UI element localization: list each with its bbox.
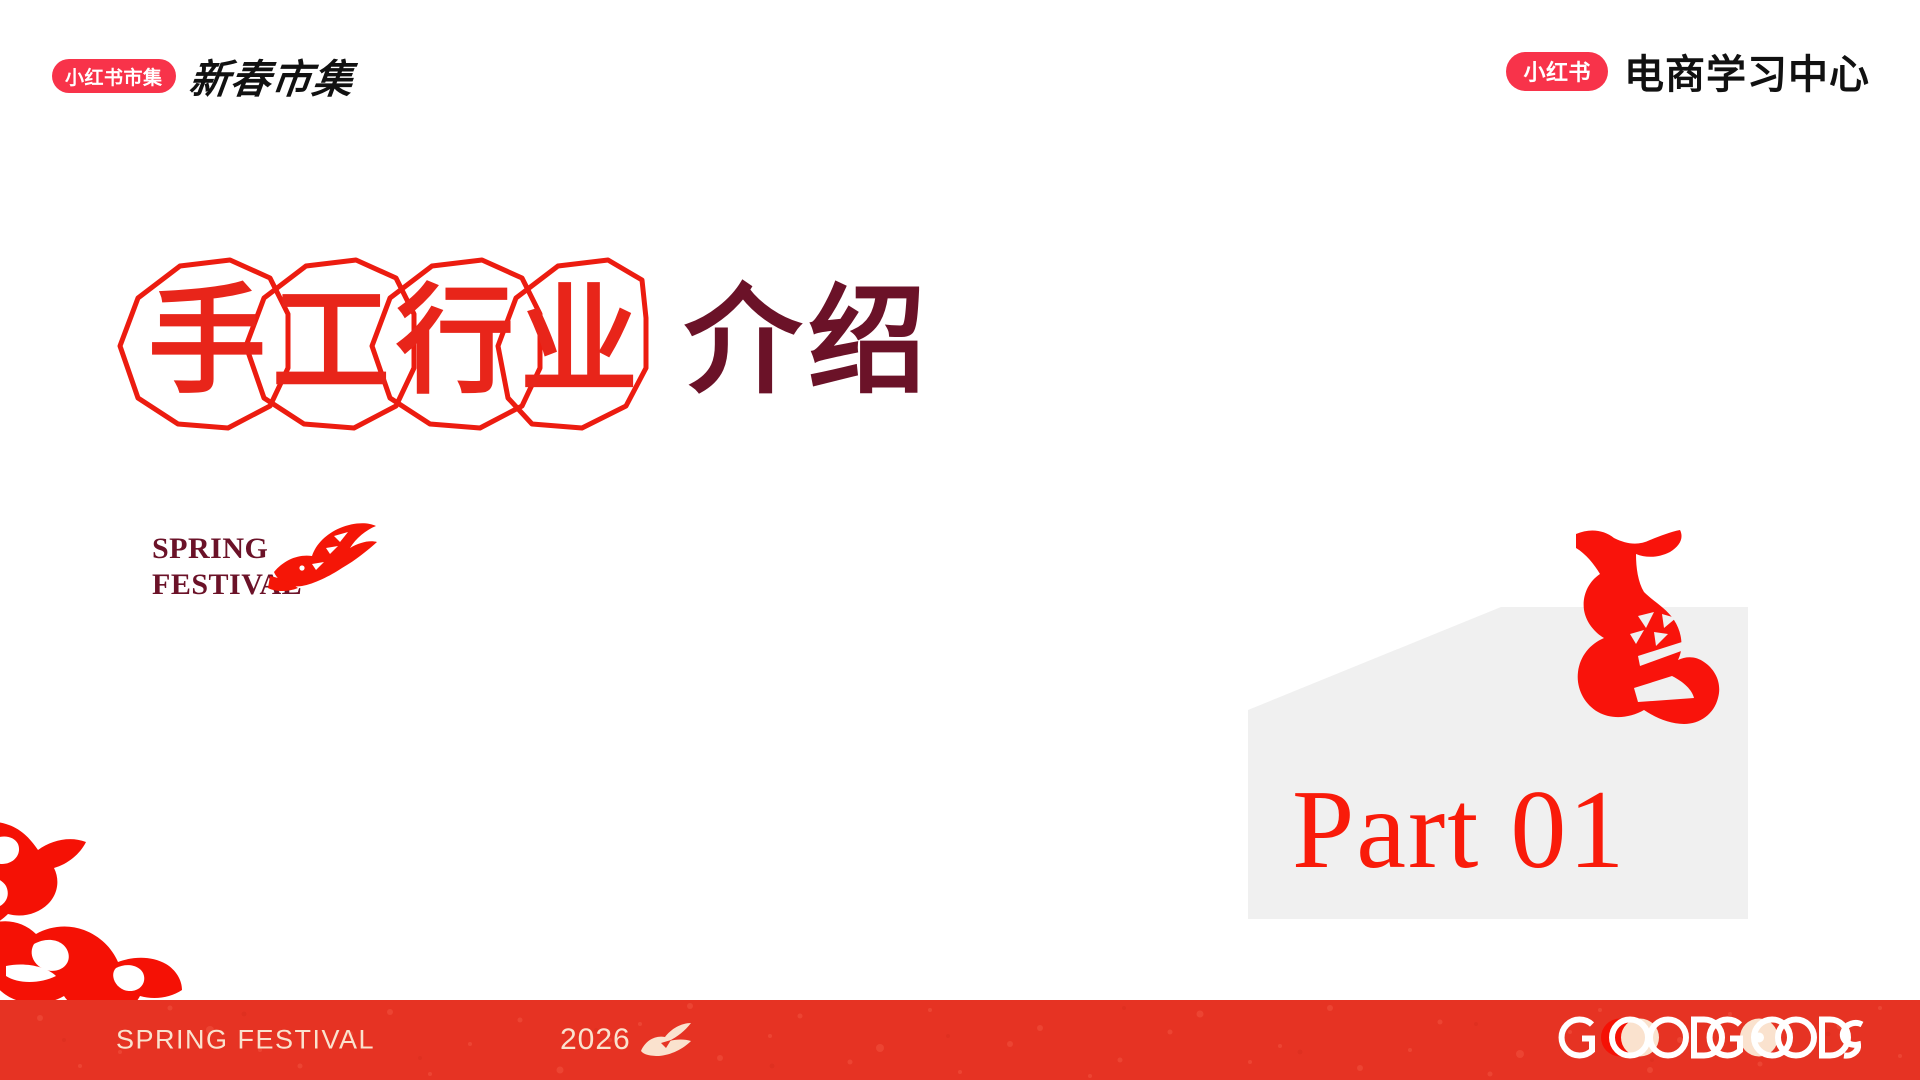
slide-root: 小红书市集 新春市集 小红书 电商学习中心 手工行业 介绍	[0, 0, 1920, 1080]
goodgoods-logo-mark	[1544, 1009, 1864, 1067]
part-label: Part 01	[1292, 770, 1626, 890]
title-plain-text: 介绍	[684, 252, 932, 432]
xiaohongshu-pill: 小红书	[1506, 52, 1608, 91]
title-stamped-text: 手工行业	[140, 252, 658, 432]
xiaohongshu-market-pill: 小红书市集	[52, 59, 176, 93]
spring-festival-sublabel: SPRING FESTIVAL	[152, 534, 378, 604]
footer-year-group: 2026	[560, 1023, 695, 1057]
flame-swoosh-icon	[639, 1023, 695, 1057]
goodgoods-logo	[1544, 1009, 1864, 1072]
header-right-wordmark: 电商学习中心	[1624, 42, 1870, 100]
stamped-title-group: 手工行业	[140, 252, 658, 432]
header-left-wordmark: 新春市集	[186, 47, 357, 105]
page-title: 手工行业 介绍	[140, 252, 932, 432]
swallow-papercut-icon	[268, 516, 378, 604]
footer-year-label: 2026	[560, 1023, 631, 1057]
header-brand-left: 小红书市集 新春市集	[52, 47, 354, 105]
horse-papercut-icon	[1542, 528, 1742, 734]
cloud-papercut-icon	[0, 806, 224, 1030]
footer-spring-festival-label: SPRING FESTIVAL	[116, 1025, 375, 1056]
footer-bar: SPRING FESTIVAL 2026	[0, 1000, 1920, 1080]
header-brand-right: 小红书 电商学习中心	[1506, 42, 1870, 100]
